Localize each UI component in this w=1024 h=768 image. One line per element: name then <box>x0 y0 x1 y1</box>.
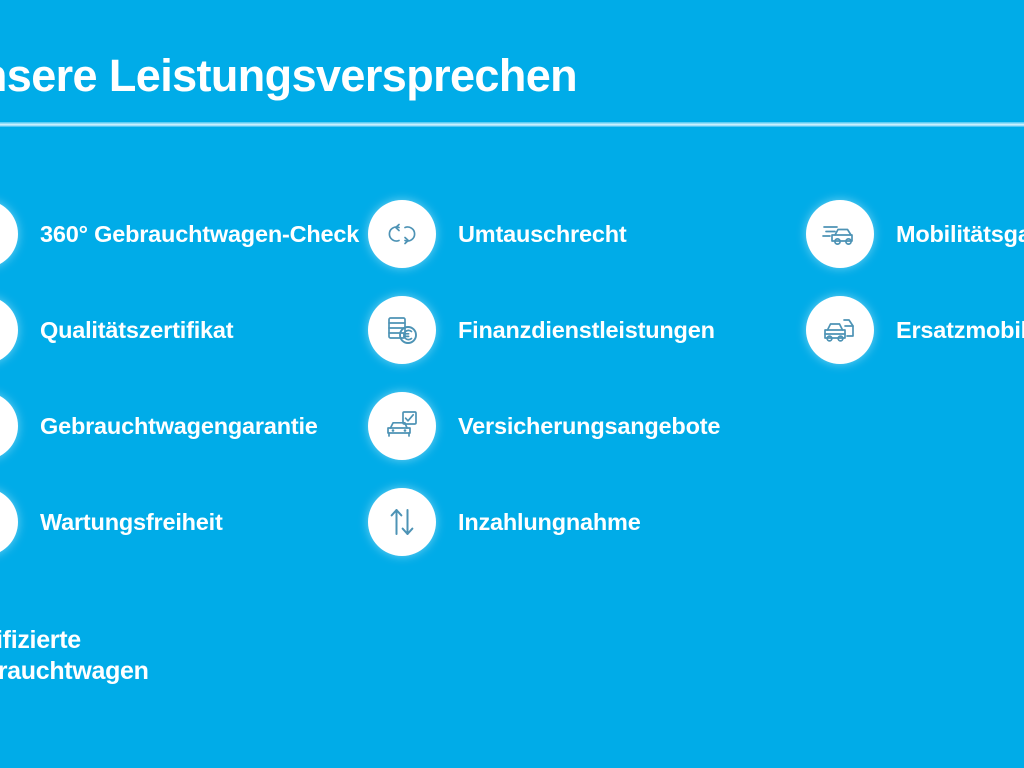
benefit-item[interactable]: Qualitätszertifikat <box>0 282 370 378</box>
benefit-item[interactable]: Inzahlungnahme <box>368 474 788 570</box>
benefit-item[interactable]: Gebrauchtwagengarantie <box>0 378 370 474</box>
certificate-icon <box>0 296 18 364</box>
benefit-label: Wartungsfreiheit <box>40 509 223 536</box>
swap-arrows-icon <box>368 200 436 268</box>
benefit-item[interactable]: Finanzdienstleistungen <box>368 282 788 378</box>
title-divider <box>0 122 1024 127</box>
two-cars-icon <box>806 296 874 364</box>
header: Unsere Leistungsversprechen <box>0 0 1024 125</box>
logo-line-1: Zertifizierte <box>0 625 370 656</box>
benefit-item[interactable]: Mobilitätsgarantie <box>806 186 1024 282</box>
benefit-label: Qualitätszertifikat <box>40 317 233 344</box>
benefits-column-2: Umtauschrecht Finanzdienstleistungen <box>368 186 788 570</box>
shield-car-icon <box>0 392 18 460</box>
benefit-label: Mobilitätsgarantie <box>896 221 1024 248</box>
benefit-label: Versicherungsangebote <box>458 413 720 440</box>
wrench-icon <box>0 488 18 556</box>
benefit-label: Gebrauchtwagengarantie <box>40 413 318 440</box>
benefits-column-3: Mobilitätsgarantie Ersatzmobilität <box>806 186 1024 378</box>
benefits-column-1: 360° Gebrauchtwagen-Check Qualitätszerti… <box>0 186 370 570</box>
logo-line-2: Gebrauchtwagen <box>0 656 370 687</box>
benefit-item[interactable]: Umtauschrecht <box>368 186 788 282</box>
benefit-label: Ersatzmobilität <box>896 317 1024 344</box>
up-down-arrows-icon <box>368 488 436 556</box>
car-checklist-icon <box>368 392 436 460</box>
car-speed-icon <box>806 200 874 268</box>
benefit-label: Finanzdienstleistungen <box>458 317 715 344</box>
benefit-item[interactable]: 360° Gebrauchtwagen-Check <box>0 186 370 282</box>
benefit-item[interactable]: Ersatzmobilität <box>806 282 1024 378</box>
page-title: Unsere Leistungsversprechen <box>0 53 577 98</box>
logo-lockup: Zertifizierte Gebrauchtwagen <box>0 625 370 687</box>
benefit-label: Inzahlungnahme <box>458 509 641 536</box>
benefit-label: Umtauschrecht <box>458 221 626 248</box>
benefit-label: 360° Gebrauchtwagen-Check <box>40 221 359 248</box>
benefit-item[interactable]: Wartungsfreiheit <box>0 474 370 570</box>
coins-euro-icon <box>368 296 436 364</box>
magnifier-car-icon <box>0 200 18 268</box>
slide-canvas: Unsere Leistungsversprechen 360° Gebrauc… <box>0 0 1024 768</box>
benefit-item[interactable]: Versicherungsangebote <box>368 378 788 474</box>
